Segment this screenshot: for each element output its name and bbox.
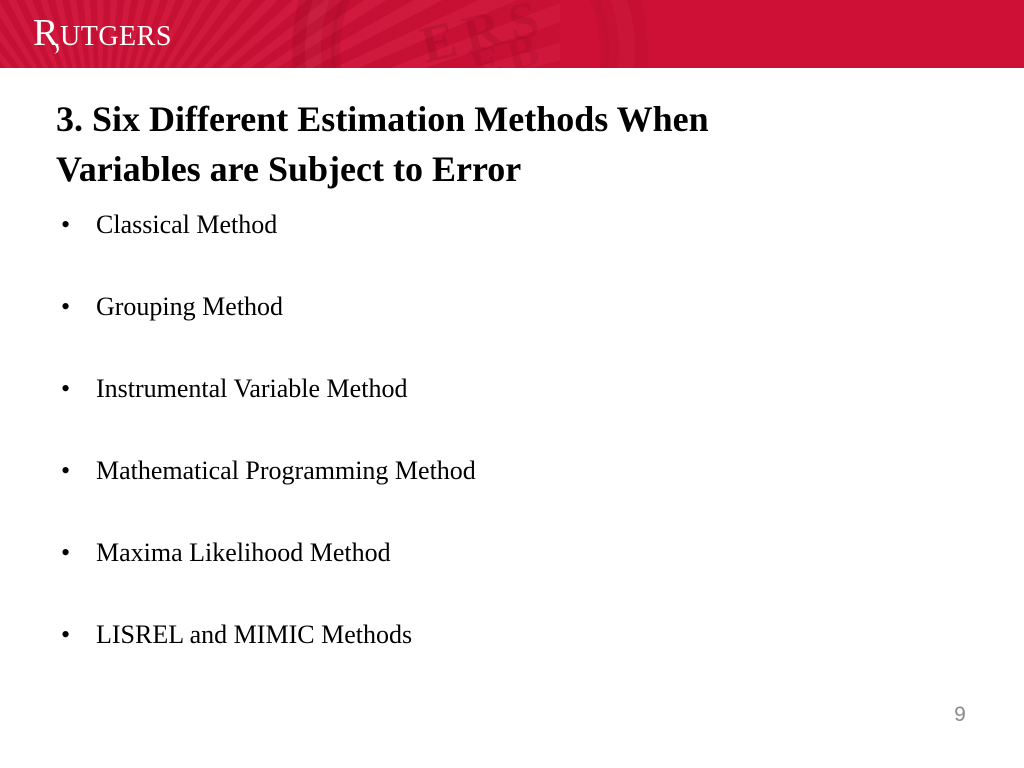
- page-number: 9: [930, 703, 990, 727]
- bullet-point-icon: •: [56, 207, 96, 243]
- banner-fade-overlay: [430, 0, 1024, 68]
- list-item: • LISREL and MIMIC Methods: [56, 617, 956, 699]
- seal-watermark-text-primary: ERS: [415, 0, 554, 68]
- rutgers-wordmark-logo: R UTGERS: [33, 11, 213, 55]
- slide-canvas: ERS EB R UTGERS 3. Six Different Estimat…: [0, 0, 1024, 768]
- list-item: • Maxima Likelihood Method: [56, 535, 956, 617]
- rutgers-seal-watermark: [257, 0, 684, 68]
- bullet-point-icon: •: [56, 617, 96, 653]
- list-item-label: Classical Method: [96, 207, 277, 243]
- slide-title-line-2: Variables are Subject to Error: [56, 144, 936, 194]
- bullet-point-icon: •: [56, 289, 96, 325]
- bullet-point-icon: •: [56, 371, 96, 407]
- bullet-list: • Classical Method • Grouping Method • I…: [56, 207, 956, 699]
- rutgers-banner: ERS EB R UTGERS: [0, 0, 1024, 68]
- svg-text:UTGERS: UTGERS: [60, 21, 172, 52]
- list-item-label: Grouping Method: [96, 289, 283, 325]
- list-item: • Grouping Method: [56, 289, 956, 371]
- list-item: • Instrumental Variable Method: [56, 371, 956, 453]
- list-item: • Classical Method: [56, 207, 956, 289]
- list-item: • Mathematical Programming Method: [56, 453, 956, 535]
- list-item-label: Maxima Likelihood Method: [96, 535, 391, 571]
- list-item-label: Mathematical Programming Method: [96, 453, 476, 489]
- slide-title-line-1: 3. Six Different Estimation Methods When: [56, 94, 936, 144]
- list-item-label: LISREL and MIMIC Methods: [96, 617, 412, 653]
- seal-watermark-text-secondary: EB: [464, 21, 551, 68]
- slide-title: 3. Six Different Estimation Methods When…: [56, 94, 936, 194]
- bullet-point-icon: •: [56, 535, 96, 571]
- svg-text:R: R: [33, 12, 59, 54]
- bullet-point-icon: •: [56, 453, 96, 489]
- list-item-label: Instrumental Variable Method: [96, 371, 407, 407]
